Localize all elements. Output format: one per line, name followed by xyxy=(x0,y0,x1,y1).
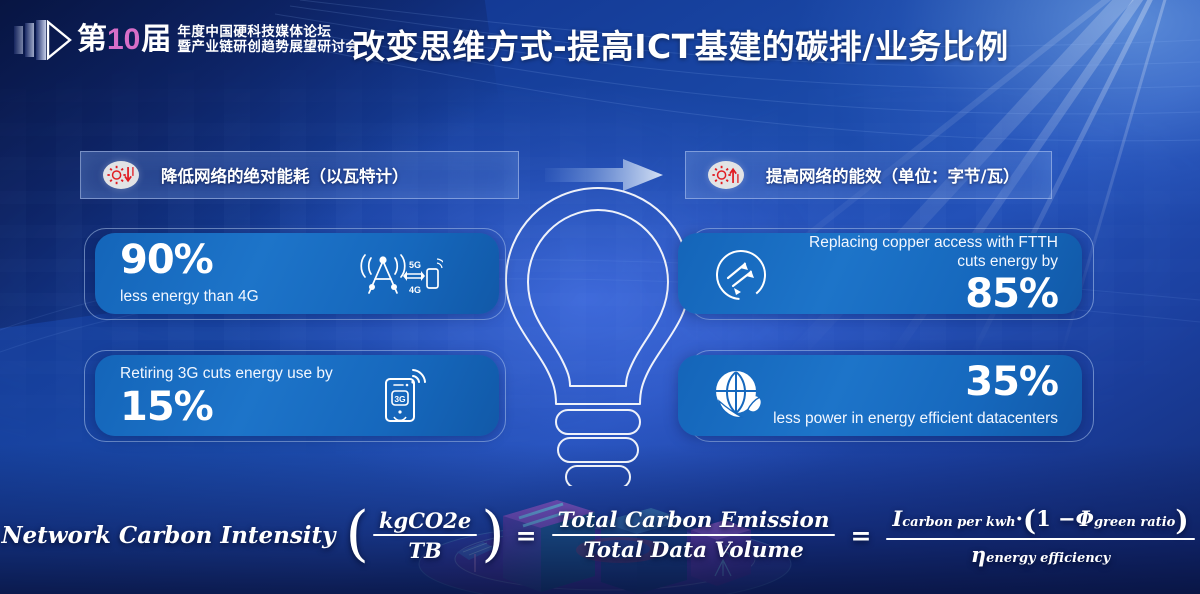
formula-inner-paren-close: ) xyxy=(1175,504,1188,537)
formula-unit-denominator: TB xyxy=(402,536,447,563)
formula-dot: · xyxy=(1016,506,1023,531)
formula-phi-subscript: green ratio xyxy=(1094,515,1175,530)
formula-i-subscript: carbon per kwh xyxy=(902,515,1015,530)
formula-middle-numerator: Total Carbon Emission xyxy=(552,508,836,534)
stat-value-85: 85% xyxy=(809,274,1058,314)
formula-i-symbol: I xyxy=(892,506,902,531)
formula-right-fraction: Icarbon per kwh·(1 −Φgreen ratio) ηenerg… xyxy=(886,504,1194,567)
formula-eta-subscript: energy efficiency xyxy=(986,551,1110,566)
slide-canvas: 第 10 届 年度中国硬科技媒体论坛 暨产业链研创趋势展望研讨会 改变思维方式-… xyxy=(0,0,1200,594)
pill-label-reduce: 降低网络的绝对能耗（以瓦特计） xyxy=(161,163,409,187)
stat-caption-datacenter: less power in energy efficient datacente… xyxy=(773,409,1058,428)
logo-edition-number: 10 xyxy=(107,25,140,55)
svg-text:3G: 3G xyxy=(394,394,406,404)
card-text-5g-energy: 90% less energy than 4G xyxy=(120,240,259,306)
play-mark-icon xyxy=(14,20,72,60)
card-text-green-datacenter: 35% less power in energy efficient datac… xyxy=(773,362,1058,428)
card-text-retire-3g: Retiring 3G cuts energy use by 15% xyxy=(120,364,333,427)
svg-text:5G: 5G xyxy=(409,260,421,270)
page-title: 改变思维方式-提高ICT基建的碳排/业务比例 xyxy=(352,20,1009,68)
card-text-ftth: Replacing copper access with FTTH cuts e… xyxy=(809,233,1058,314)
stat-caption-ftth-line1: Replacing copper access with FTTH xyxy=(809,233,1058,252)
5g-4g-tower-icon: 5G 4G xyxy=(357,249,443,299)
stat-value-15: 15% xyxy=(120,387,333,427)
card-retire-3g[interactable]: Retiring 3G cuts energy use by 15% 3G xyxy=(95,355,499,436)
right-arrow-icon xyxy=(545,158,665,192)
3g-phone-signal-icon: 3G xyxy=(379,367,431,425)
formula-eta-symbol: η xyxy=(971,542,986,567)
gear-up-arrow-icon xyxy=(708,161,744,189)
svg-text:4G: 4G xyxy=(409,285,421,295)
lightbulb-icon xyxy=(488,176,708,486)
logo-edition-prefix: 第 xyxy=(77,25,106,55)
formula-paren-close: ) xyxy=(481,510,504,559)
formula-lead: Network Carbon Intensity xyxy=(1,522,335,549)
stat-caption-ftth-line2: cuts energy by xyxy=(809,252,1058,271)
stat-caption-5g: less energy than 4G xyxy=(120,287,259,306)
formula-right-denominator: ηenergy efficiency xyxy=(965,540,1116,567)
logo-subtitle-line1: 年度中国硬科技媒体论坛 xyxy=(177,25,359,40)
formula-phi-symbol: Φ xyxy=(1076,506,1094,531)
card-ftth-energy[interactable]: Replacing copper access with FTTH cuts e… xyxy=(678,233,1082,314)
formula-unit-fraction: kgCO2e TB xyxy=(373,508,477,563)
header-bar: 第 10 届 年度中国硬科技媒体论坛 暨产业链研创趋势展望研讨会 改变思维方式-… xyxy=(0,0,1200,82)
formula-unit-numerator: kgCO2e xyxy=(373,508,477,534)
pill-reduce-absolute-energy: 降低网络的绝对能耗（以瓦特计） xyxy=(80,151,519,199)
formula-paren-open: ( xyxy=(346,510,369,559)
gear-down-arrow-icon xyxy=(103,161,139,189)
stat-caption-3g: Retiring 3G cuts energy use by xyxy=(120,364,333,383)
logo-subtitle-line2: 暨产业链研创趋势展望研讨会 xyxy=(177,40,359,55)
event-logo: 第 10 届 年度中国硬科技媒体论坛 暨产业链研创趋势展望研讨会 xyxy=(14,16,359,64)
logo-text: 第 10 届 年度中国硬科技媒体论坛 暨产业链研创趋势展望研讨会 xyxy=(77,25,359,55)
card-5g-energy[interactable]: 90% less energy than 4G 5G 4G xyxy=(95,233,499,314)
pill-improve-energy-efficiency: 提高网络的能效（单位：字节/瓦） xyxy=(685,151,1052,199)
recycle-arrows-icon xyxy=(714,248,768,302)
globe-leaf-icon xyxy=(710,367,770,423)
formula-one-minus: 1 − xyxy=(1036,506,1076,531)
formula-equals-1: = xyxy=(516,521,537,550)
formula-equals-2: = xyxy=(850,521,871,550)
formula-middle-fraction: Total Carbon Emission Total Data Volume xyxy=(552,508,836,563)
logo-subtitle: 年度中国硬科技媒体论坛 暨产业链研创趋势展望研讨会 xyxy=(177,25,359,54)
stat-value-90: 90% xyxy=(120,240,259,280)
formula-inner-paren-open: ( xyxy=(1023,504,1036,537)
carbon-intensity-formula: Network Carbon Intensity ( kgCO2e TB ) =… xyxy=(0,496,1200,574)
logo-edition-suffix: 届 xyxy=(141,25,170,55)
pill-label-improve: 提高网络的能效（单位：字节/瓦） xyxy=(766,163,1020,187)
stat-value-35: 35% xyxy=(773,362,1058,402)
formula-middle-denominator: Total Data Volume xyxy=(577,536,810,563)
card-green-datacenter[interactable]: 35% less power in energy efficient datac… xyxy=(678,355,1082,436)
formula-right-numerator: Icarbon per kwh·(1 −Φgreen ratio) xyxy=(886,504,1194,538)
